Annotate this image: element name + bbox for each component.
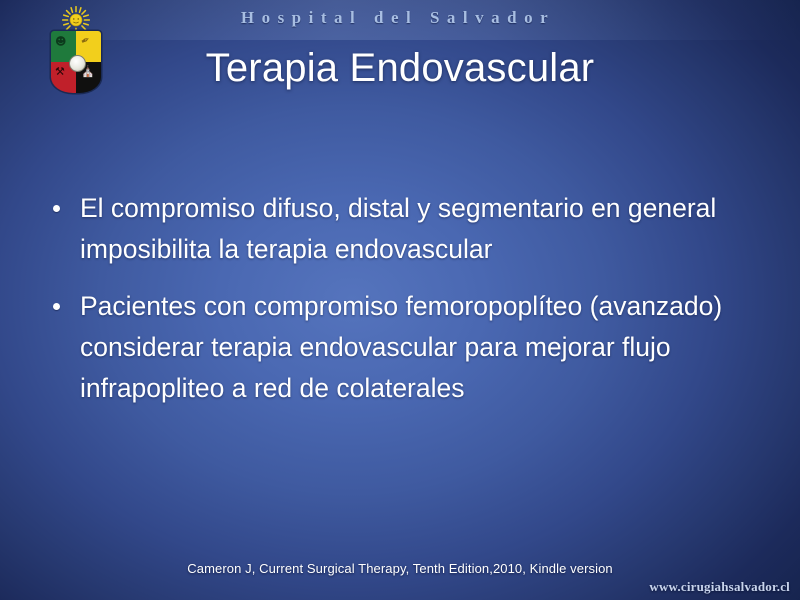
website-watermark: www.cirugiahsalvador.cl xyxy=(649,579,790,595)
bullet-dot-icon xyxy=(53,205,60,212)
list-item-text: Pacientes con compromiso femoropoplíteo … xyxy=(80,291,722,403)
mask-glyph-icon: ☻ xyxy=(55,37,66,46)
source-citation: Cameron J, Current Surgical Therapy, Ten… xyxy=(0,561,800,576)
list-item: Pacientes con compromiso femoropoplíteo … xyxy=(44,286,744,409)
list-item-text: El compromiso difuso, distal y segmentar… xyxy=(80,193,716,264)
bullet-dot-icon xyxy=(53,303,60,310)
presentation-slide: ☻ ✒ ⚒ ⛪ Hospital del Salvador Terapia En… xyxy=(0,0,800,600)
page-title: Terapia Endovascular xyxy=(0,46,800,91)
list-item: El compromiso difuso, distal y segmentar… xyxy=(44,188,744,270)
bullet-list: El compromiso difuso, distal y segmentar… xyxy=(44,188,744,425)
sun-icon xyxy=(62,6,90,34)
institution-name: Hospital del Salvador xyxy=(118,8,678,28)
